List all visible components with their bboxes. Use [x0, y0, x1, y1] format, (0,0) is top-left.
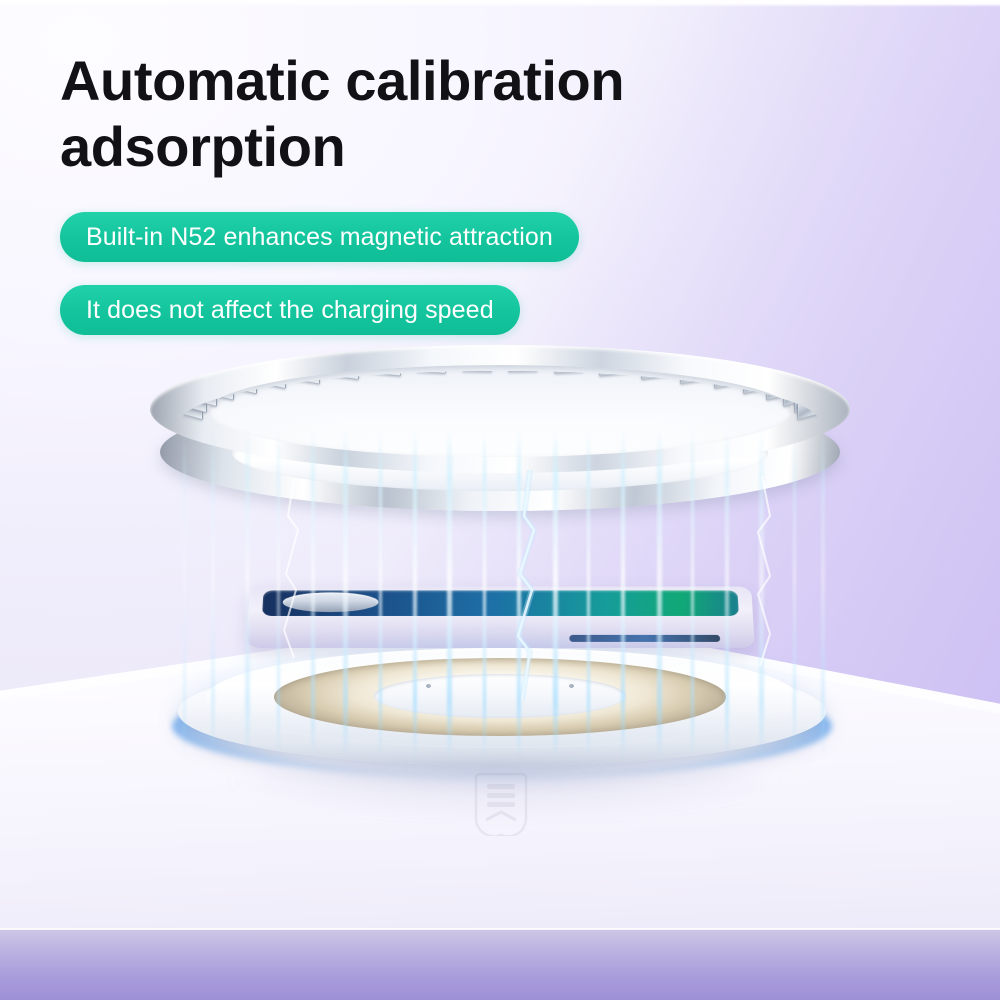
field-beam — [379, 430, 382, 760]
field-beam — [447, 430, 452, 760]
magnet-segment — [371, 371, 401, 377]
field-beam — [183, 430, 186, 760]
product-marketing-banner: Automatic calibration adsorption Built-i… — [0, 0, 1000, 1000]
field-beam — [793, 430, 796, 760]
field-beam — [821, 430, 825, 760]
field-beam — [657, 430, 662, 760]
lightning-bolt-center — [500, 470, 560, 700]
lightning-bolt-left — [272, 478, 316, 658]
brand-watermark-logo — [472, 770, 530, 836]
magnet-segment — [641, 371, 671, 380]
magnet-segment — [329, 371, 359, 380]
magnet-segment — [599, 371, 629, 377]
magnet-segment — [680, 371, 710, 384]
magnet-segment — [416, 371, 446, 374]
magnet-segment — [508, 371, 538, 372]
magnet-segment — [290, 371, 320, 384]
field-beam — [587, 430, 590, 760]
field-beam — [691, 430, 694, 760]
lightning-bolt-right — [742, 476, 786, 666]
field-beam — [211, 430, 215, 760]
field-beam — [483, 430, 486, 760]
magnet-segment — [554, 371, 584, 374]
field-beam — [343, 430, 348, 760]
field-beam — [245, 430, 250, 760]
field-beam — [725, 430, 729, 760]
field-beam — [621, 430, 625, 760]
magnet-segment — [462, 371, 492, 372]
product-illustration — [0, 0, 1000, 1000]
field-beam — [413, 430, 417, 760]
